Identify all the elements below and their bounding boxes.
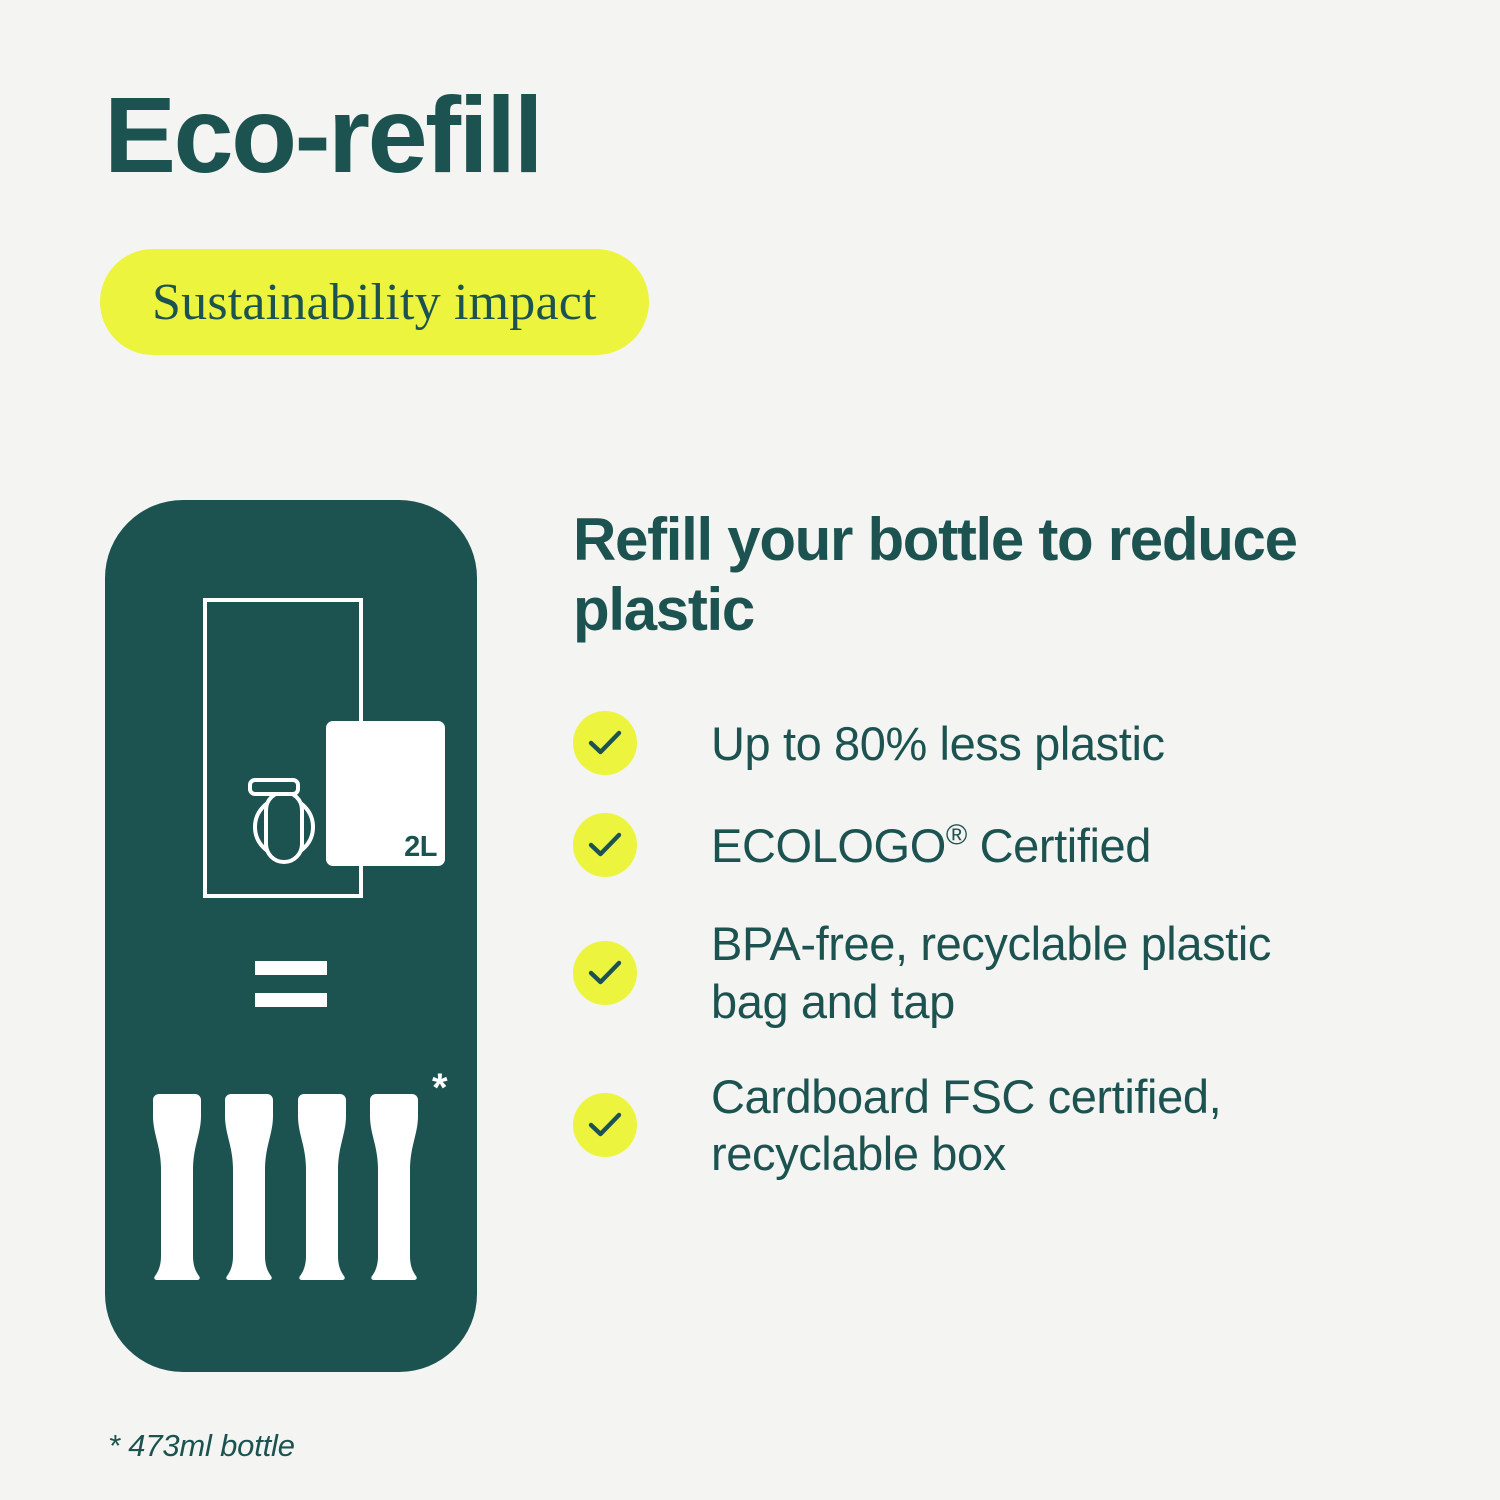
page-title: Eco-refill (104, 78, 541, 191)
bottle-graphic (366, 1094, 422, 1280)
benefit-item: ECOLOGO® Certified (573, 813, 1393, 877)
tap-spout-icon (245, 772, 323, 870)
benefit-label-brand: ECOLOGO (711, 819, 946, 872)
bottle-row-graphic (149, 1094, 439, 1280)
benefit-label: ECOLOGO® Certified (711, 817, 1151, 874)
equals-bar-top (255, 961, 327, 975)
carton-volume-label: 2L (404, 831, 437, 864)
bottle-graphic (149, 1094, 205, 1280)
benefit-item: Up to 80% less plastic (573, 711, 1393, 775)
check-icon (573, 1093, 637, 1157)
benefit-item: BPA-free, recyclable plastic bag and tap (573, 915, 1393, 1030)
sustainability-impact-badge: Sustainability impact (100, 249, 649, 355)
equals-sign-icon (255, 961, 327, 1007)
refill-bag-graphic: 2L (326, 721, 445, 866)
benefit-label-suffix: Certified (967, 819, 1151, 872)
benefit-label: Up to 80% less plastic (711, 715, 1165, 772)
check-icon (573, 941, 637, 1005)
benefit-list: Up to 80% less plastic ECOLOGO® Certifie… (573, 711, 1393, 1182)
check-icon (573, 813, 637, 877)
footnote-text: * 473ml bottle (108, 1428, 295, 1464)
benefit-item: Cardboard FSC certified, recyclable box (573, 1068, 1393, 1183)
sustainability-impact-badge-label: Sustainability impact (152, 273, 597, 332)
check-icon (573, 711, 637, 775)
eco-refill-illustration-panel: 2L (105, 500, 477, 1372)
equals-bar-bottom (255, 993, 327, 1007)
footnote-asterisk-marker: * (432, 1068, 448, 1108)
headline: Refill your bottle to reduce plastic (573, 505, 1313, 645)
bottle-graphic (221, 1094, 277, 1280)
benefit-label: BPA-free, recyclable plastic bag and tap (711, 915, 1311, 1030)
benefits-content: Refill your bottle to reduce plastic Up … (573, 505, 1393, 1183)
bottle-graphic (294, 1094, 350, 1280)
registered-trademark-symbol: ® (946, 819, 967, 851)
benefit-label: Cardboard FSC certified, recyclable box (711, 1068, 1393, 1183)
